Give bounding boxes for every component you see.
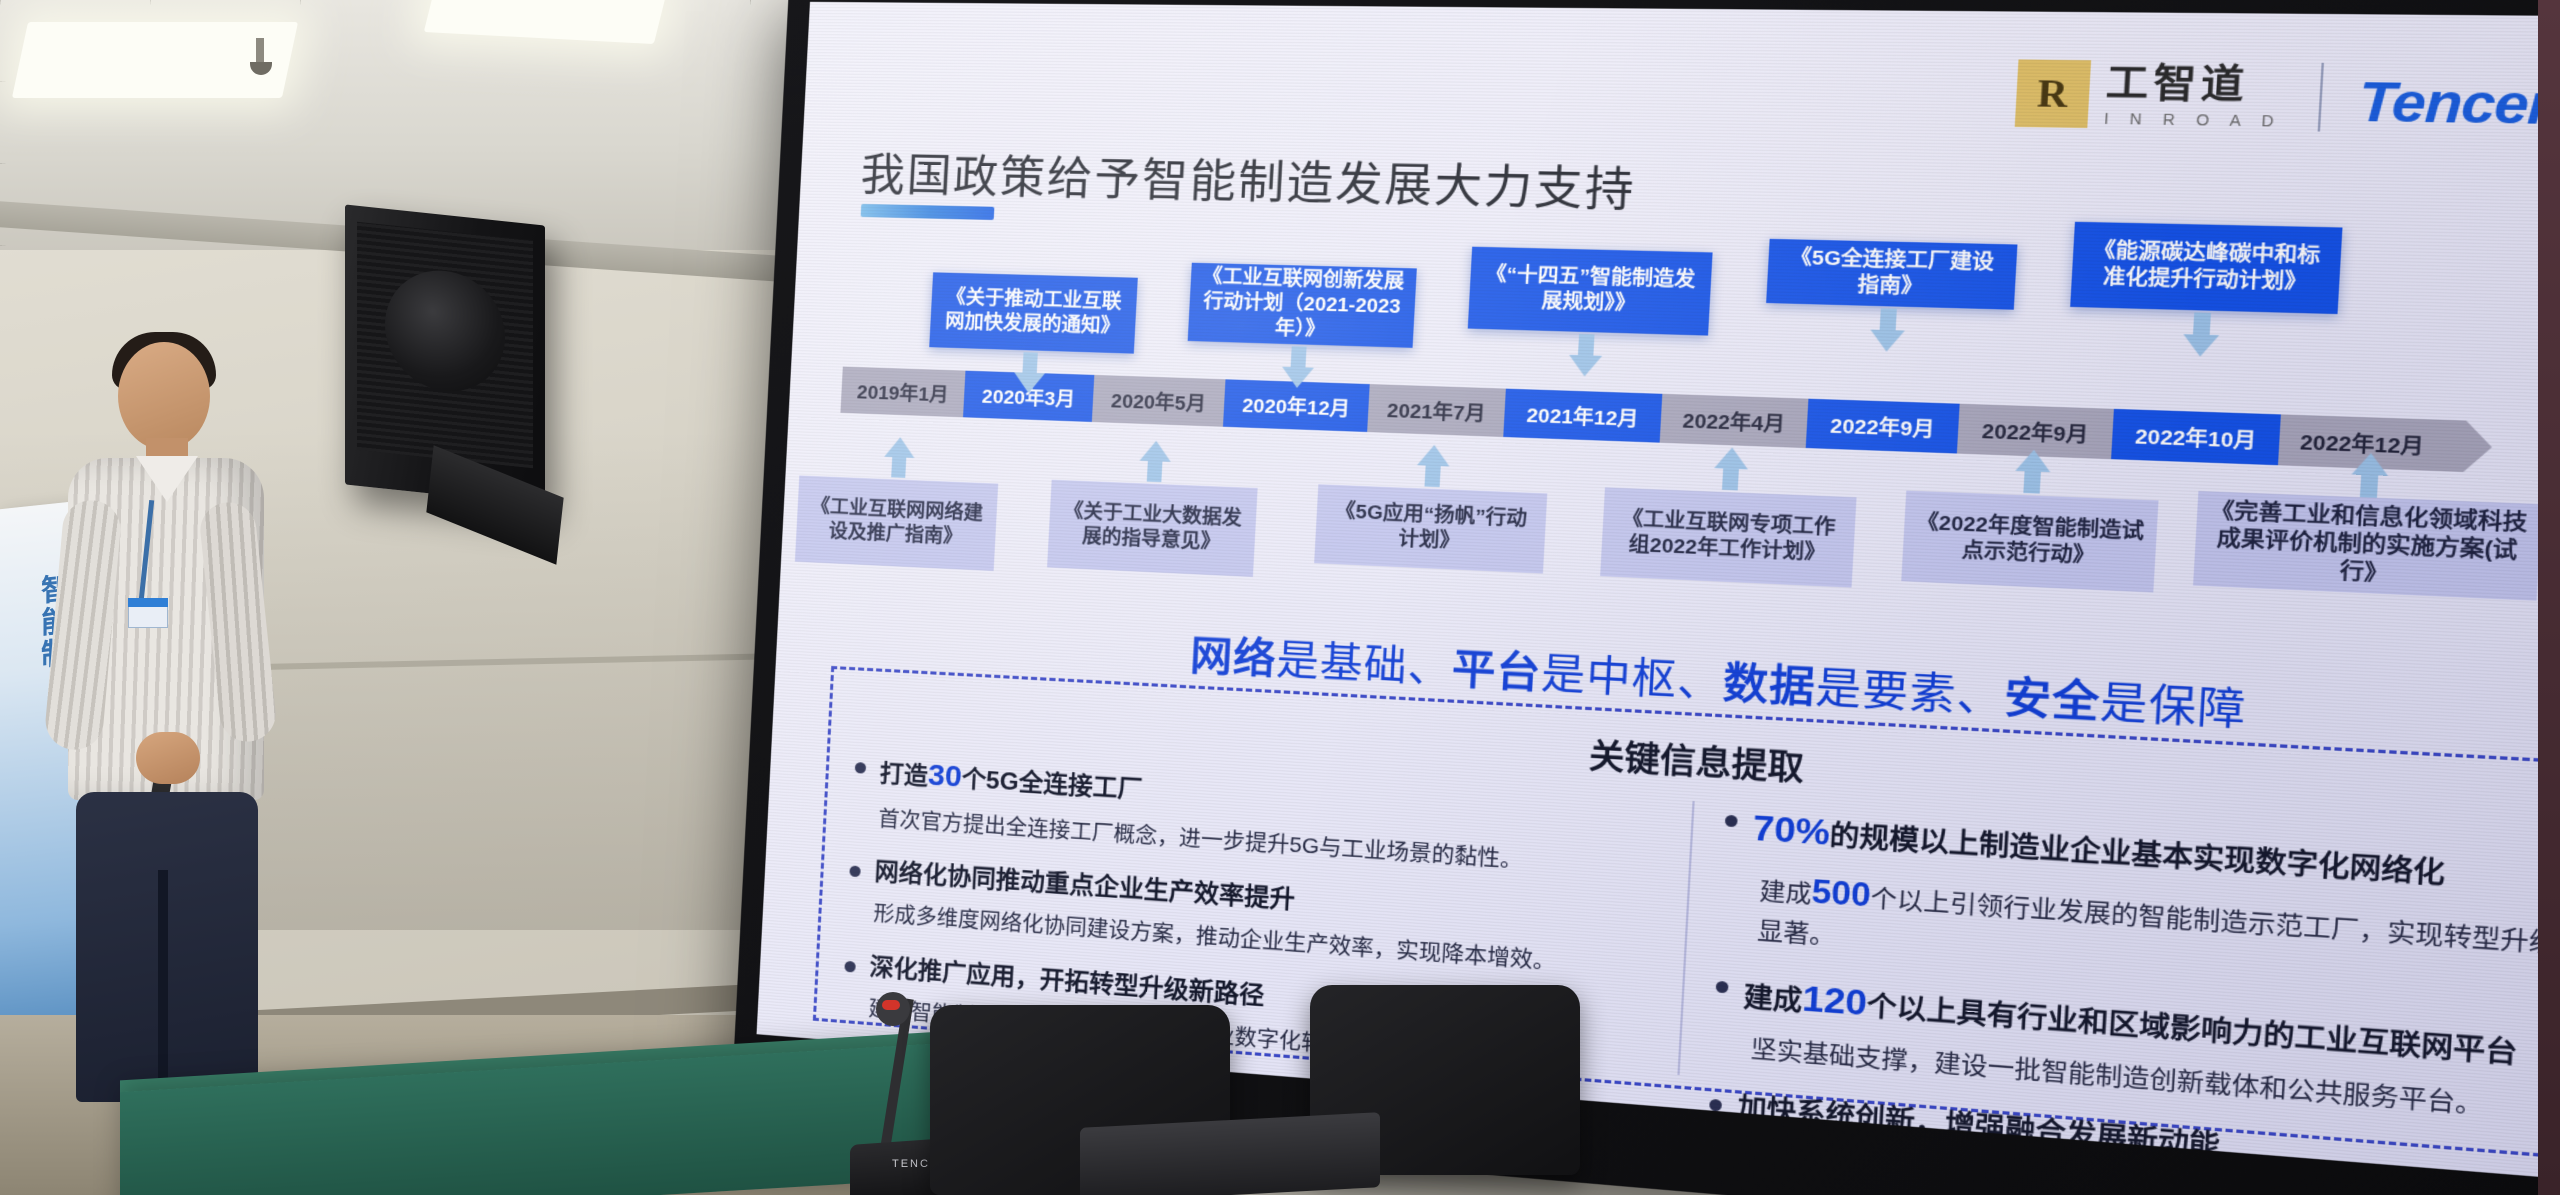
laptop bbox=[1080, 1112, 1380, 1195]
headline-text: 是基础、 bbox=[1275, 637, 1453, 692]
key-info-highlight-number: 70% bbox=[1752, 808, 1831, 853]
bullet-dot-icon bbox=[1725, 815, 1738, 827]
key-info-bullet-heading: 打造30个5G全连接工厂 bbox=[879, 752, 1144, 809]
headline-keyword: 安全 bbox=[2003, 674, 2102, 727]
tencent-logo: Tencent 腾讯 bbox=[2356, 59, 2560, 143]
timeline-arrow-down-icon bbox=[1567, 334, 1603, 392]
timeline-policy-card-below: 《工业互联网网络建设及推广指南》 bbox=[795, 476, 998, 571]
timeline-arrow-down-icon bbox=[1281, 346, 1315, 382]
key-info-bullet-heading: 加快系统创新，增强融合发展新动能 bbox=[1736, 1090, 2221, 1166]
inroad-logo-en: I N R O A D bbox=[2104, 110, 2283, 128]
timeline-policy-card-below: 《关于工业大数据发展的指导意见》 bbox=[1047, 480, 1258, 577]
headline-text: 是中枢、 bbox=[1540, 651, 1724, 707]
key-info-highlight-number: 120 bbox=[1801, 979, 1868, 1024]
screenshot-root: 智能制 R 工智道 I N R O A D bbox=[0, 0, 2560, 1195]
headline-text: 是保障 bbox=[2099, 679, 2248, 735]
logo-divider bbox=[2318, 63, 2324, 132]
inroad-logo-cn: 工智道 bbox=[2105, 63, 2285, 105]
microphone-indicator-light bbox=[882, 1000, 900, 1010]
timeline-arrow-down-icon bbox=[2179, 312, 2220, 412]
timeline-arrow-down-icon bbox=[1014, 352, 1046, 377]
bullet-dot-icon bbox=[849, 865, 861, 877]
tencent-logo-en: Tencent bbox=[2357, 70, 2560, 138]
presenter bbox=[40, 330, 290, 1090]
timeline-policy-card-above: 《能源碳达峰碳中和标准化提升行动计划》 bbox=[2070, 222, 2342, 314]
timeline-date-band: 2019年1月2020年3月2020年5月2020年12月2021年7月2021… bbox=[840, 367, 2466, 472]
timeline-policy-card-above: 《“十四五”智能制造发展规划》》 bbox=[1468, 247, 1713, 336]
headline-text: 是要素、 bbox=[1814, 664, 2005, 721]
right-wall-strip bbox=[2538, 0, 2560, 1195]
timeline-date-segment: 2021年7月 bbox=[1367, 384, 1506, 437]
sprinkler-icon bbox=[250, 38, 272, 78]
key-info-highlight-number: 30 bbox=[927, 758, 962, 793]
timeline-date-segment: 2019年1月 bbox=[840, 367, 965, 418]
timeline-arrow-up-icon bbox=[1416, 436, 1451, 487]
headline-keyword: 数据 bbox=[1722, 660, 1817, 712]
timeline-policy-card-below: 《2022年度智能制造试点示范行动》 bbox=[1901, 491, 2158, 593]
column-divider bbox=[1677, 801, 1694, 1075]
timeline-arrow-up-icon bbox=[2350, 470, 2388, 498]
slide-logo-bar: R 工智道 I N R O A D Tencent 腾讯 bbox=[2014, 55, 2560, 142]
timeline-policy-card-below: 《完善工业和信息化领域科技成果评价机制的实施方案(试行》 bbox=[2193, 491, 2542, 601]
timeline-arrow-up-icon bbox=[1138, 426, 1172, 483]
headline-keyword: 网络 bbox=[1189, 633, 1278, 683]
policy-timeline: 2019年1月2020年3月2020年5月2020年12月2021年7月2021… bbox=[832, 226, 2560, 667]
timeline-arrow-up-icon bbox=[1713, 447, 1749, 491]
presenter-badge-header bbox=[128, 598, 168, 607]
timeline-date-segment: 2022年9月 bbox=[1806, 399, 1960, 454]
inroad-logo-mark: R bbox=[2014, 59, 2090, 128]
headline-keyword: 平台 bbox=[1451, 646, 1543, 697]
presenter-head bbox=[118, 342, 210, 450]
timeline-arrow-up-icon bbox=[883, 416, 916, 478]
timeline-date-segment: 2022年10月 bbox=[2111, 409, 2281, 465]
timeline-policy-card-above: 《5G全连接工厂建设指南》 bbox=[1766, 239, 2017, 310]
presenter-hands bbox=[136, 732, 200, 784]
inroad-logo-wordmark: 工智道 I N R O A D bbox=[2104, 63, 2286, 128]
bullet-dot-icon bbox=[1709, 1099, 1722, 1112]
key-info-right-column: 70%的规模以上制造业企业基本实现数字化网络化建成500个以上引领行业发展的智能… bbox=[1711, 803, 2560, 1148]
timeline-policy-card-above: 《关于推动工业互联网加快发展的通知》 bbox=[929, 272, 1138, 353]
timeline-policy-card-above: 《工业互联网创新发展行动计划（2021-2023年）》 bbox=[1188, 263, 1417, 348]
timeline-arrow-up-icon bbox=[2014, 458, 2051, 494]
timeline-date-segment: 2020年5月 bbox=[1092, 375, 1226, 427]
timeline-date-segment: 2022年4月 bbox=[1660, 394, 1809, 448]
bullet-dot-icon bbox=[855, 762, 867, 774]
timeline-policy-card-below: 《工业互联网专项工作组2022年工作计划》 bbox=[1600, 487, 1856, 587]
inroad-logo: R 工智道 I N R O A D bbox=[2014, 59, 2285, 131]
title-underline bbox=[861, 204, 995, 220]
bullet-dot-icon bbox=[844, 960, 856, 972]
timeline-date-segment: 2021年12月 bbox=[1503, 389, 1662, 443]
timeline-policy-card-below: 《5G应用“扬帆”行动计划》 bbox=[1314, 484, 1547, 573]
timeline-arrow-down-icon bbox=[1867, 308, 1907, 402]
bullet-dot-icon bbox=[1716, 981, 1729, 994]
key-info-highlight-number: 500 bbox=[1811, 873, 1872, 914]
